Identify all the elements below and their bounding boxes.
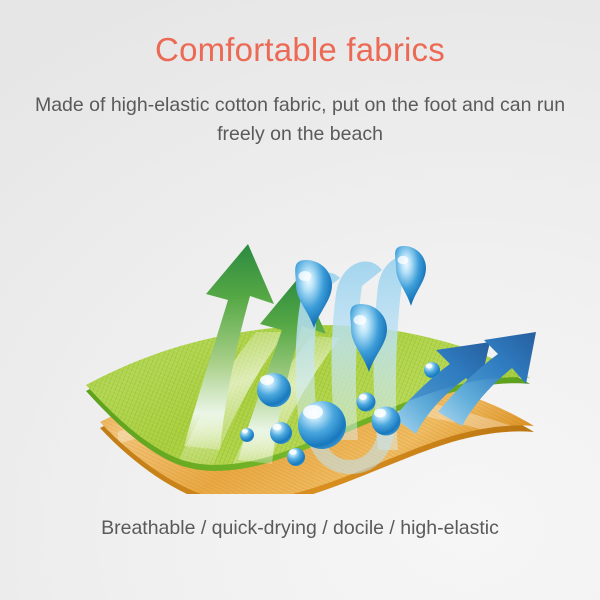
water-bead	[424, 362, 440, 378]
poster-root: Comfortable fabrics Made of high-elastic…	[0, 0, 600, 600]
water-bead	[257, 373, 291, 407]
page-title: Comfortable fabrics	[0, 30, 600, 70]
water-bead	[357, 393, 376, 412]
water-bead	[372, 407, 401, 436]
fabric-illustration	[78, 182, 540, 494]
water-bead	[270, 422, 292, 444]
water-bead	[240, 428, 254, 442]
page-subtitle: Made of high-elastic cotton fabric, put …	[22, 91, 578, 149]
water-bead	[287, 448, 305, 466]
water-bead	[298, 401, 346, 449]
feature-caption: Breathable / quick-drying / docile / hig…	[0, 515, 600, 541]
